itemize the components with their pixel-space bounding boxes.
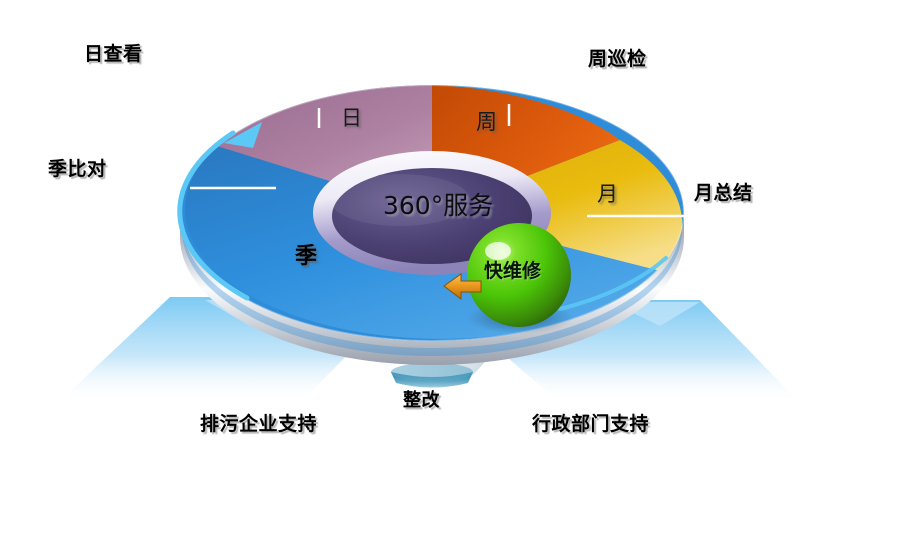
callout-zhou-inspect: 周巡检 <box>588 50 647 69</box>
segment-label-ji: 季 <box>295 246 317 268</box>
segment-label-yue: 月 <box>597 184 618 205</box>
diagram-canvas: 日 周 月 季 360°服务 快维修 日查看 周巡检 季比对 月总结 整改 排污… <box>0 0 924 539</box>
sphere-label: 快维修 <box>484 262 541 281</box>
callout-admin-support: 行政部门支持 <box>532 415 649 434</box>
donut-funnel-illustration <box>0 0 924 539</box>
callout-polluter-support: 排污企业支持 <box>200 415 317 434</box>
hub-title: 360°服务 <box>383 193 493 218</box>
callout-rectify: 整改 <box>403 392 440 410</box>
callout-ji-compare: 季比对 <box>48 160 107 179</box>
segment-label-ri: 日 <box>341 108 362 129</box>
cone-rim <box>391 363 473 381</box>
callout-yue-summary: 月总结 <box>694 184 753 203</box>
segment-label-zhou: 周 <box>476 112 497 133</box>
callout-ri-view: 日查看 <box>84 45 143 64</box>
sphere-specular <box>485 242 511 260</box>
